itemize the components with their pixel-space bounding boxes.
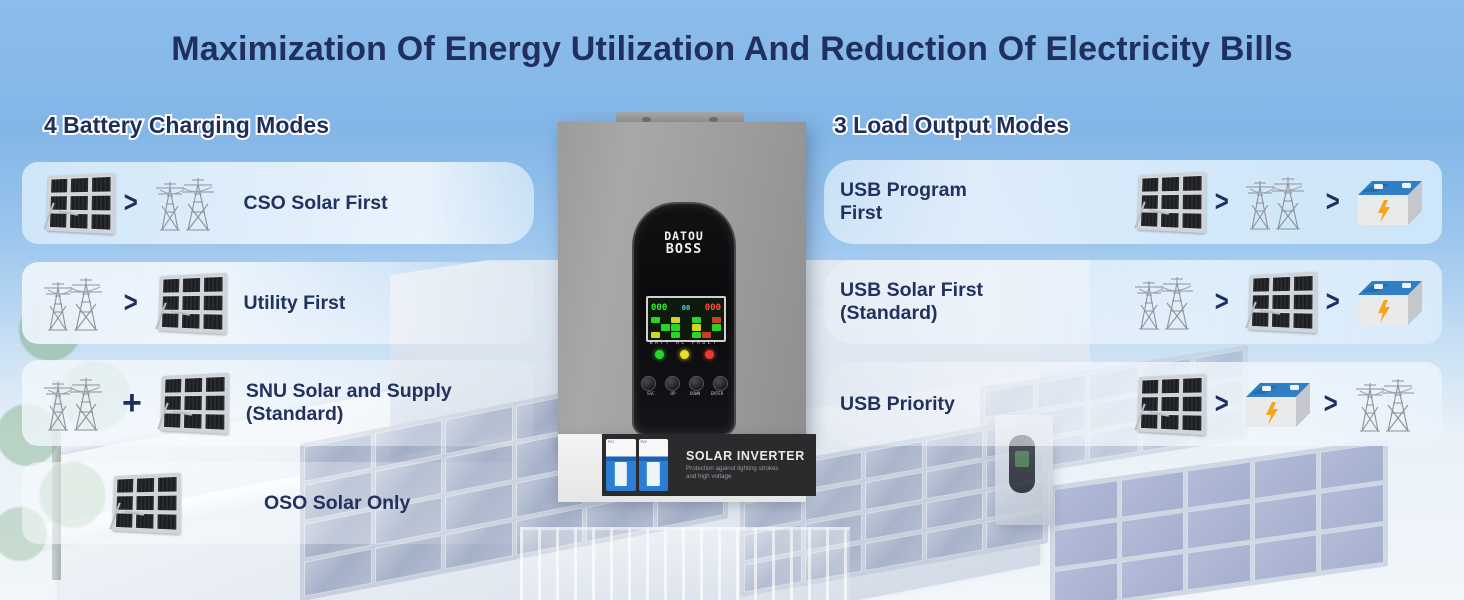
inverter-control-panel: DATOU BOSS 000 00 000 [632,202,736,436]
output-mode-card[interactable]: USB Program First > [824,160,1442,244]
greater-than-operator: > [1215,389,1229,419]
left-section-heading: 4 Battery Charging Modes [44,112,329,139]
greater-than-operator: > [124,288,138,318]
mode-label: Utility First [244,292,346,315]
right-section-heading: 3 Load Output Modes [834,112,1069,139]
lcd-left-value: 000 [651,303,667,313]
down-button-label: DOWN [687,392,703,397]
charging-mode-card[interactable]: OSO Solar Only [22,462,534,544]
flow-diagram [102,472,180,534]
mode-label: USB Solar First (Standard) [840,279,1090,324]
flow-diagram: + [36,372,228,434]
power-tower-icon [36,272,114,334]
solar-panel-icon [36,172,114,234]
down-button[interactable] [689,376,704,391]
power-tower-icon [1238,171,1316,233]
ac-status-led [680,350,689,359]
footer-dark-panel: PV1 PV2 SOLAR INVERTER Protection agains… [602,434,816,496]
brand-line-2: BOSS [634,242,734,256]
greater-than-operator: > [1324,389,1338,419]
footer-subtitle: Protection against lighting strokes and … [686,465,805,482]
esc-button[interactable] [641,376,656,391]
mode-label: CSO Solar First [244,192,388,215]
infographic-canvas: Maximization Of Energy Utilization And R… [0,0,1464,600]
balcony-railing [520,527,850,600]
breaker-pv1: PV1 [606,439,636,491]
solar-panel-icon [102,472,180,534]
greater-than-operator: > [1215,187,1229,217]
lcd-indicator-grid [651,317,721,338]
inverter-body: DATOU BOSS 000 00 000 [558,122,806,442]
mode-label: OSO Solar Only [264,492,410,515]
led-labels: BATT AC FAULT [634,341,734,346]
fault-status-led [705,350,714,359]
battery-status-led [655,350,664,359]
circuit-breakers: PV1 PV2 [606,439,668,491]
mode-label: USB Priority [840,393,1090,416]
flow-diagram: > [36,272,226,334]
enter-button[interactable] [713,376,728,391]
control-button-labels: ESC UP DOWN ENTER [634,392,734,397]
flow-diagram: > [36,172,226,234]
power-tower-icon [148,172,226,234]
up-button[interactable] [665,376,680,391]
lcd-center-value: 00 [682,304,690,312]
breaker-pv1-label: PV1 [608,440,614,444]
charging-mode-card[interactable]: + SNU Solar and Supply (Standard) [22,360,534,446]
power-tower-icon [1348,373,1426,435]
greater-than-operator: > [1326,187,1340,217]
brand-logo: DATOU BOSS [634,230,734,256]
status-led-row: BATT AC FAULT [634,350,734,359]
background-solar-array [1050,438,1388,600]
breaker-pv2: PV2 [639,439,669,491]
charging-mode-card[interactable]: > Utility First [22,262,534,344]
plus-operator: + [122,386,142,420]
output-mode-card[interactable]: USB Solar First (Standard) [824,260,1442,344]
lcd-display: 000 00 000 [646,296,726,342]
enter-button-label: ENTER [709,392,725,397]
control-button-row[interactable] [634,376,734,391]
charging-mode-card[interactable]: > [22,162,534,244]
inverter-footer-banner: PV1 PV2 SOLAR INVERTER Protection agains… [558,434,806,502]
lcd-right-value: 000 [705,303,721,313]
battery-icon [1350,273,1426,331]
battery-icon [1238,375,1314,433]
solar-inverter-product: DATOU BOSS 000 00 000 [558,112,806,496]
greater-than-operator: > [1326,287,1340,317]
mode-label: USB Program First [840,179,1090,224]
footer-title: SOLAR INVERTER [686,449,805,463]
breaker-pv2-label: PV2 [641,440,647,444]
output-mode-card[interactable]: USB Priority > > [824,362,1442,446]
greater-than-operator: > [124,188,138,218]
solar-panel-icon [150,372,228,434]
power-tower-icon [36,372,114,434]
battery-icon [1350,173,1426,231]
greater-than-operator: > [1215,287,1229,317]
flow-diagram: > [1127,171,1426,233]
power-tower-icon [1127,271,1205,333]
page-title: Maximization Of Energy Utilization And R… [0,30,1464,69]
solar-panel-icon [1127,373,1205,435]
solar-panel-icon [1238,271,1316,333]
solar-panel-icon [1127,171,1205,233]
flow-diagram: > > [1127,373,1426,435]
esc-button-label: ESC [643,392,659,397]
solar-panel-icon [148,272,226,334]
flow-diagram: > > [1127,271,1426,333]
mode-label: SNU Solar and Supply (Standard) [246,380,452,425]
up-button-label: UP [665,392,681,397]
